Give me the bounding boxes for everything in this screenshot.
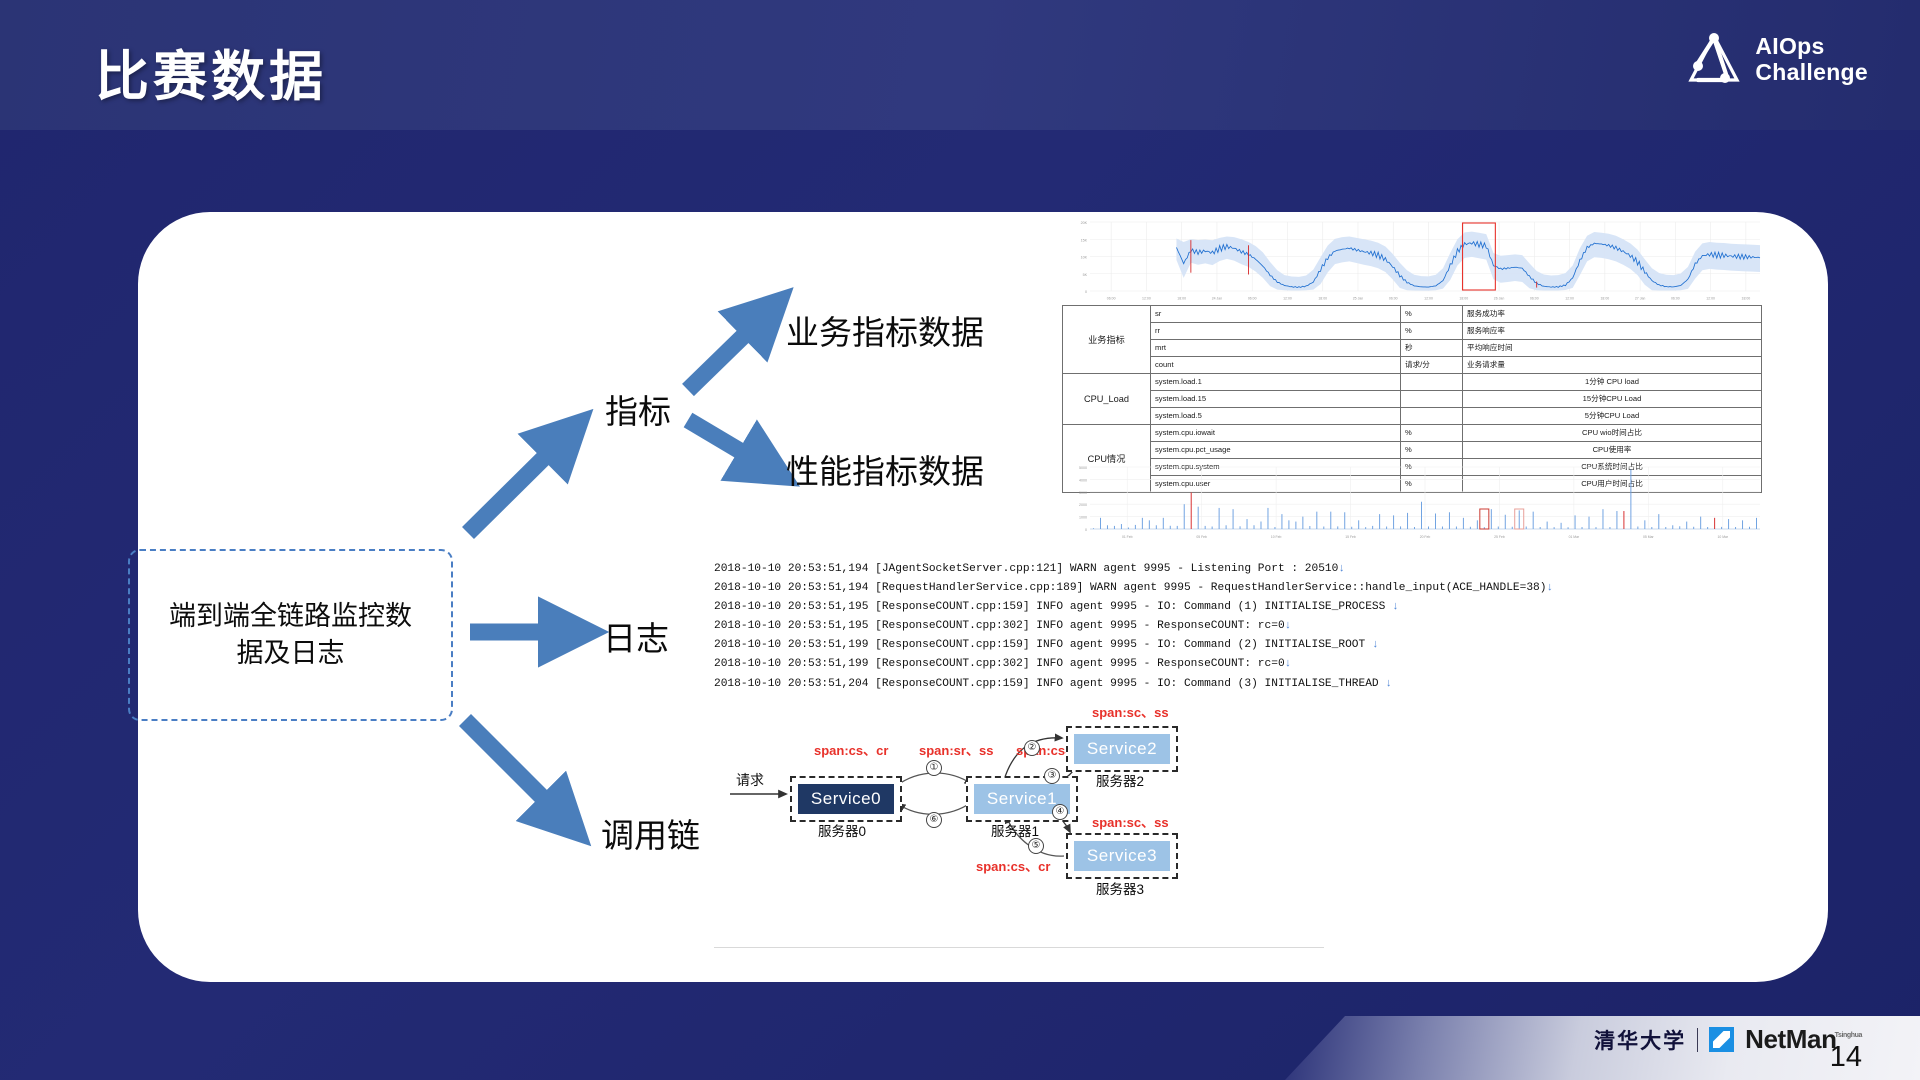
x-axis-tick-label: 18:00	[1742, 297, 1751, 301]
data-source-label: 端到端全链路监控数据及日志	[166, 598, 416, 673]
trace-service-2-label: Service2	[1074, 734, 1170, 764]
x-axis-tick-label: 05 Feb	[1196, 535, 1207, 539]
metric-name-cell: rr	[1151, 323, 1401, 340]
metric-unit-cell	[1401, 374, 1463, 391]
x-axis-tick-label: 18:00	[1318, 297, 1327, 301]
confidence-band	[1176, 232, 1760, 291]
table-row: CPU_Loadsystem.load.11分钟 CPU load	[1063, 374, 1762, 391]
trace-server-label-3: 服务器3	[1096, 878, 1144, 898]
x-axis-tick-label: 01 Mar	[1569, 535, 1580, 539]
linefeed-glyph: ↓	[1392, 601, 1399, 613]
y-axis-tick-label: 2000	[1079, 503, 1087, 507]
trace-server-label-2: 服务器2	[1096, 770, 1144, 790]
log-line: 2018-10-10 20:53:51,204 [ResponseCOUNT.c…	[714, 675, 1334, 694]
aiops-challenge-logo: AIOps Challenge	[1684, 30, 1868, 88]
x-axis-tick-label: 25 Feb	[1494, 535, 1505, 539]
trace-request-label: 请求	[736, 770, 764, 790]
log-line: 2018-10-10 20:53:51,199 [ResponseCOUNT.c…	[714, 655, 1334, 674]
linefeed-glyph: ↓	[1372, 639, 1379, 651]
y-axis-tick-label: 3000	[1079, 491, 1087, 495]
x-axis-tick-label: 06:00	[1671, 297, 1680, 301]
metric-unit-cell: %	[1401, 323, 1463, 340]
x-axis-tick-label: 01 Feb	[1122, 535, 1133, 539]
page-title: 比赛数据	[95, 32, 327, 111]
x-axis-tick-label: 18:00	[1600, 297, 1609, 301]
metric-unit-cell: 请求/分	[1401, 357, 1463, 374]
x-axis-tick-label: 20 Feb	[1420, 535, 1431, 539]
trace-service-3-label: Service3	[1074, 841, 1170, 871]
x-axis-tick-label: 24 Jan	[1212, 297, 1223, 301]
footer-divider	[1697, 1028, 1698, 1052]
x-axis-tick-label: 06:00	[1389, 297, 1398, 301]
metric-group-cell: CPU_Load	[1063, 374, 1151, 425]
trace-service-2: Service2	[1066, 726, 1178, 772]
x-axis-tick-label: 10 Mar	[1717, 535, 1728, 539]
x-axis-tick-label: 12:00	[1565, 297, 1574, 301]
metric-name-cell: system.load.1	[1151, 374, 1401, 391]
metric-name-cell: mrt	[1151, 340, 1401, 357]
trace-divider	[714, 947, 1324, 948]
slide-background: 比赛数据 AIOps Challenge	[0, 0, 1920, 1080]
trace-span-label-service-0: span:cs、cr	[814, 740, 888, 759]
metric-description-cell: 服务响应率	[1463, 323, 1762, 340]
x-axis-tick-label: 06:00	[1530, 297, 1539, 301]
trace-service-3: Service3	[1066, 833, 1178, 879]
x-axis-tick-label: 26 Jan	[1494, 297, 1505, 301]
y-axis-tick-label: 5K	[1083, 273, 1088, 277]
metric-unit-cell	[1401, 391, 1463, 408]
x-axis-tick-label: 27 Jan	[1635, 297, 1646, 301]
trace-service-0: Service0	[790, 776, 902, 822]
table-row: system.cpu.pct_usage%CPU使用率	[1063, 442, 1762, 459]
trace-server-label-1: 服务器1	[991, 820, 1039, 840]
log-line: 2018-10-10 20:53:51,194 [JAgentSocketSer…	[714, 560, 1334, 579]
metric-description-cell: 服务成功率	[1463, 306, 1762, 323]
metric-description-cell: 业务请求量	[1463, 357, 1762, 374]
x-axis-tick-label: 12:00	[1142, 297, 1151, 301]
tsinghua-university-label: 清华大学	[1594, 1025, 1686, 1055]
x-axis-tick-label: 15 Feb	[1345, 535, 1356, 539]
trace-step-1: ①	[926, 760, 942, 776]
x-axis-tick-label: 18:00	[1177, 297, 1186, 301]
metric-unit-cell	[1401, 408, 1463, 425]
x-axis-tick-label: 06:00	[1107, 297, 1116, 301]
table-row: rr%服务响应率	[1063, 323, 1762, 340]
log-line: 2018-10-10 20:53:51,195 [ResponseCOUNT.c…	[714, 598, 1334, 617]
trace-step-6: ⑥	[926, 812, 942, 828]
x-axis-tick-label: 18:00	[1459, 297, 1468, 301]
y-axis-tick-label: 5000	[1079, 466, 1087, 470]
node-label-trace: 调用链	[601, 809, 700, 857]
table-row: mrt秒平均响应时间	[1063, 340, 1762, 357]
metric-name-cell: count	[1151, 357, 1401, 374]
log-line: 2018-10-10 20:53:51,194 [RequestHandlerS…	[714, 579, 1334, 598]
logo-line-1: AIOps	[1755, 33, 1824, 59]
aiops-triangle-nodes-icon	[1684, 30, 1742, 88]
metric-name-cell: system.cpu.iowait	[1151, 425, 1401, 442]
y-axis-tick-label: 4000	[1079, 478, 1087, 482]
metric-name-cell: system.load.15	[1151, 391, 1401, 408]
slide-footer: 清华大学 NetManTsinghua	[1285, 1016, 1920, 1080]
y-axis-tick-label: 1000	[1079, 516, 1087, 520]
y-axis-tick-label: 0	[1085, 528, 1087, 532]
metric-name-cell: sr	[1151, 306, 1401, 323]
trace-step-5: ⑤	[1028, 838, 1044, 854]
x-axis-tick-label: 06:00	[1248, 297, 1257, 301]
x-axis-tick-label: 05 Mar	[1643, 535, 1654, 539]
metric-description-cell: 平均响应时间	[1463, 340, 1762, 357]
x-axis-tick-label: 12:00	[1424, 297, 1433, 301]
anomaly-highlight-box	[1480, 509, 1489, 529]
trace-span-label-service-3-client: span:cs、cr	[976, 856, 1050, 875]
netman-logo-icon	[1709, 1027, 1734, 1052]
node-label-metrics: 指标	[605, 385, 671, 433]
metric-description-cell: CPU wio时间占比	[1463, 425, 1762, 442]
logo-text: AIOps Challenge	[1755, 33, 1868, 85]
log-line: 2018-10-10 20:53:51,195 [ResponseCOUNT.c…	[714, 617, 1334, 636]
metric-description-cell: 1分钟 CPU load	[1463, 374, 1762, 391]
metric-name-cell: system.cpu.pct_usage	[1151, 442, 1401, 459]
y-axis-tick-label: 0	[1085, 290, 1087, 294]
y-axis-tick-label: 10K	[1081, 256, 1088, 260]
y-axis-tick-label: 20K	[1081, 221, 1088, 225]
table-row: system.load.55分钟CPU Load	[1063, 408, 1762, 425]
log-line: 2018-10-10 20:53:51,199 [ResponseCOUNT.c…	[714, 636, 1334, 655]
node-label-performance-metrics: 性能指标数据	[786, 445, 984, 493]
trace-step-3: ③	[1044, 768, 1060, 784]
page-number: 14	[1830, 1041, 1862, 1074]
metric-unit-cell: %	[1401, 425, 1463, 442]
trace-step-4: ④	[1052, 804, 1068, 820]
linefeed-glyph: ↓	[1385, 678, 1392, 690]
metric-unit-cell: %	[1401, 306, 1463, 323]
slide-header: 比赛数据 AIOps Challenge	[0, 0, 1920, 130]
netman-superscript: Tsinghua	[1835, 1032, 1862, 1039]
metric-group-cell: 业务指标	[1063, 306, 1151, 374]
node-label-business-metrics: 业务指标数据	[786, 306, 984, 354]
linefeed-glyph: ↓	[1547, 582, 1554, 594]
linefeed-glyph: ↓	[1338, 563, 1345, 575]
log-sample-block: 2018-10-10 20:53:51,194 [JAgentSocketSer…	[714, 560, 1334, 694]
business-metric-timeseries-chart: 05K10K15K20K06:0012:0018:0024 Jan06:0012…	[1064, 218, 1764, 303]
metric-unit-cell: 秒	[1401, 340, 1463, 357]
linefeed-glyph: ↓	[1285, 658, 1292, 670]
metric-description-cell: CPU使用率	[1463, 442, 1762, 459]
trace-service-0-label: Service0	[798, 784, 894, 814]
trace-span-label-service-3: span:sc、ss	[1092, 812, 1169, 831]
node-label-logs: 日志	[603, 612, 669, 660]
linefeed-glyph: ↓	[1285, 620, 1292, 632]
data-source-box: 端到端全链路监控数据及日志	[128, 549, 453, 721]
x-axis-tick-label: 12:00	[1706, 297, 1715, 301]
metric-name-cell: system.load.5	[1151, 408, 1401, 425]
metric-description-cell: 5分钟CPU Load	[1463, 408, 1762, 425]
metric-unit-cell: %	[1401, 442, 1463, 459]
x-axis-tick-label: 25 Jan	[1353, 297, 1364, 301]
metric-description-cell: 15分钟CPU Load	[1463, 391, 1762, 408]
trace-span-label-service-2: span:sc、ss	[1092, 702, 1169, 721]
y-axis-tick-label: 15K	[1081, 238, 1088, 242]
trace-span-label-service-1: span:sr、ss	[919, 740, 993, 759]
trace-server-label-0: 服务器0	[818, 820, 866, 840]
table-row: 业务指标sr%服务成功率	[1063, 306, 1762, 323]
x-axis-tick-label: 10 Feb	[1271, 535, 1282, 539]
footer-logo-group: 清华大学 NetManTsinghua	[1594, 1024, 1864, 1055]
trace-step-2: ②	[1024, 740, 1040, 756]
call-chain-diagram: 请求 Service0 span:cs、cr 服务器0 Service1 spa…	[714, 716, 1324, 946]
x-axis-tick-label: 12:00	[1283, 297, 1292, 301]
table-row: CPU情况system.cpu.iowait%CPU wio时间占比	[1063, 425, 1762, 442]
logo-line-2: Challenge	[1755, 59, 1868, 85]
table-row: system.load.1515分钟CPU Load	[1063, 391, 1762, 408]
performance-metric-spikes-chart: 01000200030004000500001 Feb05 Feb10 Feb1…	[1064, 463, 1764, 541]
table-row: count请求/分业务请求量	[1063, 357, 1762, 374]
